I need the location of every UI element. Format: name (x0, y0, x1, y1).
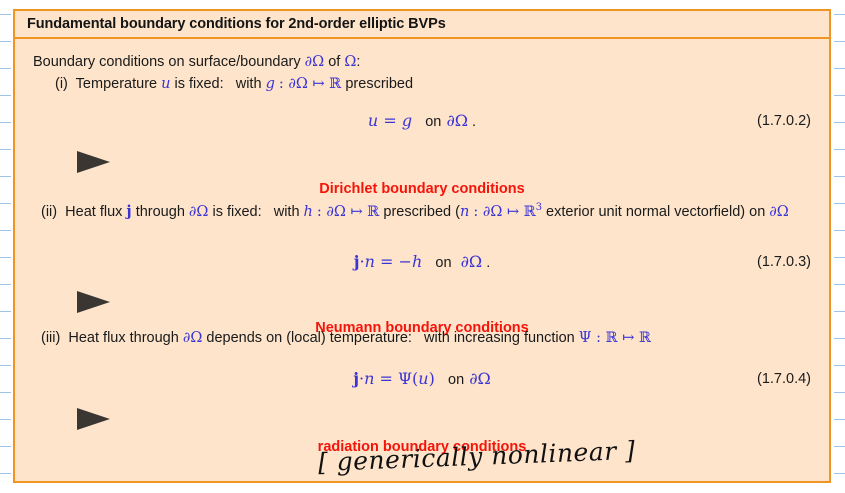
equation-3-u: u (418, 369, 428, 388)
margin-tick (0, 392, 11, 393)
margin-tick (834, 122, 845, 123)
math-h: h (304, 204, 313, 220)
margin-tick (834, 338, 845, 339)
margin-tick (0, 338, 11, 339)
math-partial-omega-ii-2: ∂Ω (769, 204, 789, 220)
margin-tick (834, 365, 845, 366)
margin-tick (0, 230, 11, 231)
math-map-n: : ∂Ω ↦ ℝ3 (473, 204, 542, 220)
item-marker-ii: (ii) (41, 204, 57, 220)
equation-1: u = g on ∂Ω . (15, 111, 829, 130)
math-g: g (266, 76, 275, 92)
margin-tick (0, 284, 11, 285)
math-partial-omega-iii: ∂Ω (183, 330, 203, 346)
item-marker-iii: (iii) (41, 330, 60, 346)
margin-tick (834, 176, 845, 177)
equation-1-rhs: g (402, 111, 412, 130)
equation-1-lhs: u (368, 111, 378, 130)
equation-2-period: . (482, 255, 490, 271)
triangle-bullet-icon-3 (77, 408, 110, 430)
panel-header: Fundamental boundary conditions for 2nd-… (15, 11, 829, 39)
slide-panel: Fundamental boundary conditions for 2nd-… (13, 9, 831, 483)
margin-tick (0, 419, 11, 420)
margin-tick (0, 203, 11, 204)
equation-3-domain: ∂Ω (469, 369, 491, 388)
triangle-bullet-icon (77, 151, 110, 173)
equation-3-eq: = (380, 369, 393, 388)
margin-tick (0, 149, 11, 150)
equation-2-minus: − (399, 252, 412, 271)
equation-3-psi: Ψ( (398, 369, 418, 388)
triangle-bullet-icon-2 (77, 291, 110, 313)
panel-body: Boundary conditions on surface/boundary … (15, 39, 829, 481)
margin-tick (834, 473, 845, 474)
margin-tick (834, 311, 845, 312)
margin-tick (0, 122, 11, 123)
intro-line: Boundary conditions on surface/boundary … (33, 53, 360, 71)
math-psi: Ψ : ℝ ↦ ℝ (579, 330, 651, 346)
equation-1-eq: = (383, 111, 396, 130)
left-margin-rail (0, 0, 12, 493)
margin-tick (834, 203, 845, 204)
margin-tick (0, 365, 11, 366)
equation-number-2: (1.7.0.3) (757, 254, 811, 270)
margin-tick (834, 446, 845, 447)
margin-tick (834, 419, 845, 420)
equation-2-n: n (365, 252, 375, 271)
margin-tick (834, 68, 845, 69)
math-map-h: : ∂Ω ↦ ℝ (317, 204, 379, 220)
equation-3-close: ) (429, 369, 435, 388)
margin-tick (0, 473, 11, 474)
math-partial-omega: ∂Ω (305, 54, 325, 70)
margin-tick (834, 149, 845, 150)
margin-tick (834, 230, 845, 231)
caption-dirichlet: Dirichlet boundary conditions (15, 181, 829, 197)
margin-tick (0, 14, 11, 15)
equation-2-h: h (412, 252, 422, 271)
item-ii-text: (ii) Heat flux j through ∂Ω is fixed: wi… (41, 202, 821, 221)
math-partial-omega-ii: ∂Ω (189, 204, 209, 220)
margin-tick (0, 41, 11, 42)
equation-1-domain: ∂Ω (446, 111, 468, 130)
margin-tick (0, 95, 11, 96)
item-marker-i: (i) (55, 76, 68, 92)
math-j: j (126, 203, 131, 220)
list-item-i: (i) Temperature u is fixed: with g : ∂Ω … (55, 75, 413, 93)
equation-2-on: on (427, 255, 455, 271)
margin-tick (0, 68, 11, 69)
margin-tick (834, 41, 845, 42)
equation-3-n: n (364, 369, 374, 388)
margin-tick (834, 95, 845, 96)
margin-tick (834, 257, 845, 258)
equation-3: j·n = Ψ(u) on ∂Ω (15, 369, 829, 388)
list-item-iii: (iii) Heat flux through ∂Ω depends on (l… (41, 329, 651, 347)
margin-tick (834, 284, 845, 285)
margin-tick (0, 257, 11, 258)
equation-1-on: on (417, 114, 441, 130)
margin-tick (834, 14, 845, 15)
math-n: n (460, 204, 469, 220)
equation-number-1: (1.7.0.2) (757, 113, 811, 129)
list-item-ii: (ii) Heat flux j through ∂Ω is fixed: wi… (41, 202, 821, 221)
equation-3-on: on (440, 372, 464, 388)
equation-2-domain: ∂Ω (461, 252, 483, 271)
equation-2: j·n = −h on ∂Ω . (15, 252, 829, 271)
margin-tick (834, 392, 845, 393)
math-u: u (161, 76, 170, 92)
math-omega: Ω (344, 54, 356, 70)
equation-2-eq: = (380, 252, 393, 271)
margin-tick (0, 311, 11, 312)
right-margin-rail (833, 0, 845, 493)
margin-tick (0, 176, 11, 177)
margin-tick (0, 446, 11, 447)
equation-1-period: . (468, 114, 476, 130)
math-map-g: : ∂Ω ↦ ℝ (279, 76, 341, 92)
equation-number-3: (1.7.0.4) (757, 371, 811, 387)
page-title: Fundamental boundary conditions for 2nd-… (27, 16, 446, 32)
